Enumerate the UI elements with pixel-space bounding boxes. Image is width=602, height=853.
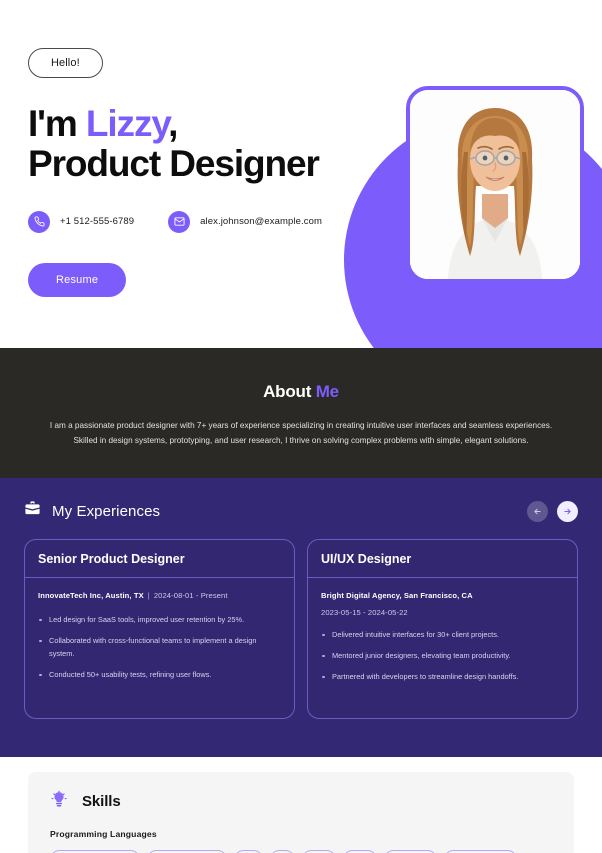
experience-card-list: Senior Product Designer InnovateTech Inc… [24, 539, 578, 719]
experience-role: UI/UX Designer [321, 552, 564, 566]
skills-title: Skills [82, 793, 121, 810]
list-item: Partnered with developers to streamline … [321, 671, 564, 684]
contact-row: +1 512-555-6789 alex.johnson@example.com [28, 211, 602, 233]
experiences-carousel-nav [527, 501, 578, 522]
contact-phone[interactable]: +1 512-555-6789 [28, 211, 134, 233]
headline-comma: , [168, 103, 177, 144]
experience-company: InnovateTech Inc, Austin, TX [38, 591, 144, 600]
experience-meta-separator: | [144, 591, 154, 600]
skills-panel: Skills Programming Languages JavaScript … [28, 772, 574, 853]
headline-prefix: I'm [28, 103, 86, 144]
carousel-prev-button[interactable] [527, 501, 548, 522]
briefcase-icon [24, 500, 41, 522]
hero-content: Hello! I'm Lizzy, Product Designer +1 51… [0, 0, 602, 297]
resume-button[interactable]: Resume [28, 263, 126, 297]
envelope-icon [168, 211, 190, 233]
contact-email[interactable]: alex.johnson@example.com [168, 211, 322, 233]
skills-group-label: Programming Languages [50, 829, 552, 839]
list-item: Delivered intuitive interfaces for 30+ c… [321, 629, 564, 642]
experience-card: Senior Product Designer InnovateTech Inc… [24, 539, 295, 719]
experience-dates: 2023-05-15 - 2024-05-22 [321, 608, 564, 617]
experience-bullets: Led design for SaaS tools, improved user… [38, 614, 281, 682]
experience-dates: 2024-08-01 - Present [154, 591, 228, 600]
experience-meta: InnovateTech Inc, Austin, TX|2024-08-01 … [38, 590, 281, 601]
experience-company: Bright Digital Agency, San Francisco, CA [321, 591, 473, 600]
experiences-header-left: My Experiences [24, 500, 160, 522]
arrow-right-icon [563, 504, 572, 519]
carousel-next-button[interactable] [557, 501, 578, 522]
list-item: Led design for SaaS tools, improved user… [38, 614, 281, 627]
phone-value: +1 512-555-6789 [60, 216, 134, 227]
headline-role: Product Designer [28, 143, 319, 184]
skills-header: Skills [50, 790, 552, 813]
about-paragraph: I am a passionate product designer with … [46, 418, 556, 448]
hero-section: Hello! I'm Lizzy, Product Designer +1 51… [0, 0, 602, 348]
experience-card-body: InnovateTech Inc, Austin, TX|2024-08-01 … [25, 578, 294, 695]
about-title-main: About [263, 382, 316, 401]
list-item: Collaborated with cross-functional teams… [38, 635, 281, 661]
phone-icon [28, 211, 50, 233]
experience-card-header: Senior Product Designer [25, 540, 294, 578]
resume-page: Hello! I'm Lizzy, Product Designer +1 51… [0, 0, 602, 853]
hello-badge: Hello! [28, 48, 103, 78]
arrow-left-icon [533, 504, 542, 519]
about-section: About Me I am a passionate product desig… [0, 348, 602, 478]
experience-card-header: UI/UX Designer [308, 540, 577, 578]
headline-name: Lizzy [86, 103, 168, 144]
experiences-section: My Experiences [0, 478, 602, 757]
list-item: Conducted 50+ usability tests, refining … [38, 669, 281, 682]
email-value: alex.johnson@example.com [200, 216, 322, 227]
experience-role: Senior Product Designer [38, 552, 281, 566]
lightbulb-icon [50, 790, 68, 813]
about-title-accent: Me [316, 382, 339, 401]
about-title: About Me [46, 382, 556, 402]
list-item: Mentored junior designers, elevating tea… [321, 650, 564, 663]
experience-card: UI/UX Designer Bright Digital Agency, Sa… [307, 539, 578, 719]
experience-bullets: Delivered intuitive interfaces for 30+ c… [321, 629, 564, 684]
experiences-header: My Experiences [24, 500, 578, 522]
page-title: I'm Lizzy, Product Designer [28, 104, 602, 185]
experience-meta: Bright Digital Agency, San Francisco, CA [321, 590, 564, 601]
experiences-title: My Experiences [52, 503, 160, 520]
experience-card-body: Bright Digital Agency, San Francisco, CA… [308, 578, 577, 697]
skills-section: Skills Programming Languages JavaScript … [0, 757, 602, 853]
